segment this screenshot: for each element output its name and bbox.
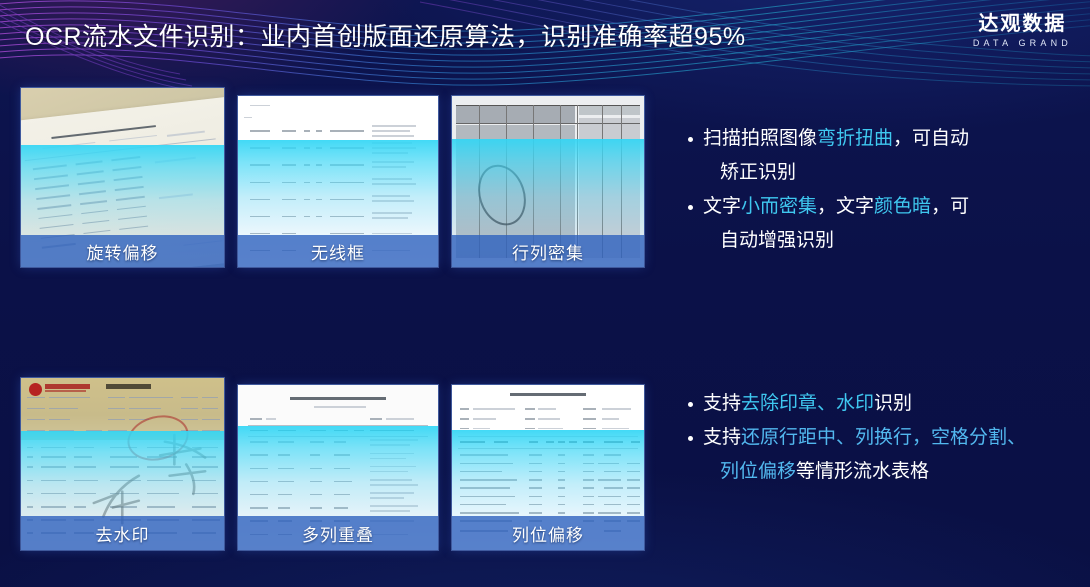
bullet-line-continued: 列位偏移等情形流水表格 xyxy=(703,455,1066,489)
brand-logo-cn: 达观数据 xyxy=(973,14,1072,34)
card-borderless-table[interactable]: 无线框 xyxy=(238,96,438,267)
bullet-text-segment: 识别 xyxy=(874,393,912,414)
bullet-text-highlight: 列位偏移 xyxy=(720,461,796,482)
bullet-item: 支持去除印章、水印识别 xyxy=(686,387,1066,421)
bullet-item: 文字小而密集，文字颜色暗，可 自动增强识别 xyxy=(686,190,1066,258)
bullet-line-continued: 自动增强识别 xyxy=(703,224,1066,258)
page-title: OCR流水文件识别：业内首创版面还原算法，识别准确率超95% xyxy=(25,17,746,53)
slide-header: OCR流水文件识别：业内首创版面还原算法，识别准确率超95% 达观数据 DATA… xyxy=(0,0,1090,72)
bullet-item: 支持还原行距中、列换行，空格分割、 列位偏移等情形流水表格 xyxy=(686,421,1066,489)
card-caption-watermark-removal: 去水印 xyxy=(21,516,224,550)
card-watermark-removal[interactable]: 去水印 xyxy=(21,378,224,550)
bullet-line: 支持去除印章、水印识别 xyxy=(703,393,912,414)
bank-logo-icon xyxy=(29,383,42,396)
bullet-group-top: 扫描拍照图像弯折扭曲，可自动 矫正识别 文字小而密集，文字颜色暗，可 自动增强识… xyxy=(686,122,1066,258)
bullet-text-segment: ，可 xyxy=(931,196,969,217)
bullet-text-segment: ，文字 xyxy=(817,196,874,217)
card-caption-dense-rows-cols: 行列密集 xyxy=(452,235,644,267)
bullet-text-segment: 支持 xyxy=(703,427,741,448)
bullet-text-segment: 扫描拍照图像 xyxy=(703,128,817,149)
bullet-text-highlight: 颜色暗 xyxy=(874,196,931,217)
bullet-text-highlight: 还原行距中、列换行，空格分割、 xyxy=(741,427,1026,448)
bullet-line: 扫描拍照图像弯折扭曲，可自动 xyxy=(703,128,969,149)
brand-logo: 达观数据 DATA GRAND xyxy=(973,14,1072,48)
bullet-item: 扫描拍照图像弯折扭曲，可自动 矫正识别 xyxy=(686,122,1066,190)
bullet-line: 支持还原行距中、列换行，空格分割、 xyxy=(703,427,1026,448)
bullet-text-highlight: 小而密集 xyxy=(741,196,817,217)
card-caption-borderless-table: 无线框 xyxy=(238,235,438,267)
bullet-text-segment: 支持 xyxy=(703,393,741,414)
bullet-text-highlight: 弯折扭曲 xyxy=(817,128,893,149)
bullet-line-continued: 矫正识别 xyxy=(703,156,1066,190)
bullet-group-bottom: 支持去除印章、水印识别 支持还原行距中、列换行，空格分割、 列位偏移等情形流水表… xyxy=(686,387,1066,489)
card-rotation-offset[interactable]: 旋转偏移 xyxy=(21,88,224,267)
bullet-text-highlight: 去除印章、水印 xyxy=(741,393,874,414)
card-column-shift[interactable]: 列位偏移 xyxy=(452,385,644,550)
bullet-line: 文字小而密集，文字颜色暗，可 xyxy=(703,196,969,217)
card-caption-column-overlap: 多列重叠 xyxy=(238,516,438,550)
card-dense-rows-cols[interactable]: 行列密集 xyxy=(452,96,644,267)
slide-root: OCR流水文件识别：业内首创版面还原算法，识别准确率超95% 达观数据 DATA… xyxy=(0,0,1090,587)
card-caption-column-shift: 列位偏移 xyxy=(452,516,644,550)
bullet-text-segment: 等情形流水表格 xyxy=(796,461,929,482)
card-column-overlap[interactable]: 多列重叠 xyxy=(238,385,438,550)
card-caption-rotation-offset: 旋转偏移 xyxy=(21,235,224,267)
bullet-text-segment: 文字 xyxy=(703,196,741,217)
brand-logo-en: DATA GRAND xyxy=(973,39,1072,48)
bullet-text-segment: ，可自动 xyxy=(893,128,969,149)
